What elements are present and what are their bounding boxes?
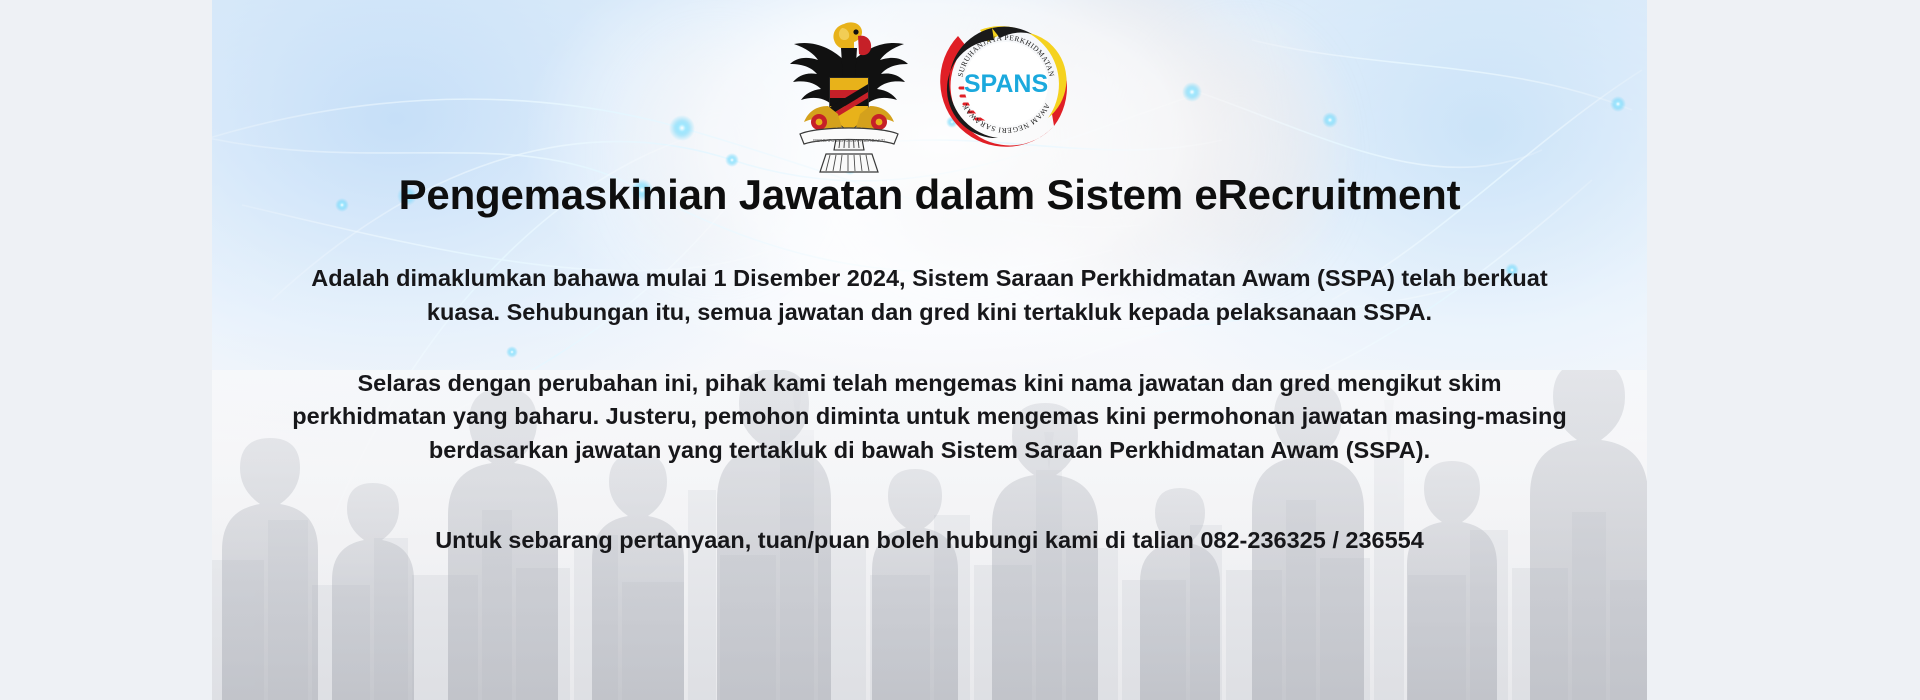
contact-line: Untuk sebarang pertanyaan, tuan/puan bol…: [435, 527, 1424, 554]
announcement-paragraph-2: Selaras dengan perubahan ini, pihak kami…: [285, 367, 1575, 467]
announcement-paragraph-1: Adalah dimaklumkan bahawa mulai 1 Disemb…: [285, 262, 1575, 329]
announcement-banner: BERSATU BERUSAHA BERBAKTI: [212, 0, 1647, 700]
page-root: BERSATU BERUSAHA BERBAKTI: [0, 0, 1920, 700]
banner-content: Pengemaskinian Jawatan dalam Sistem eRec…: [212, 0, 1647, 700]
page-title: Pengemaskinian Jawatan dalam Sistem eRec…: [399, 172, 1461, 218]
